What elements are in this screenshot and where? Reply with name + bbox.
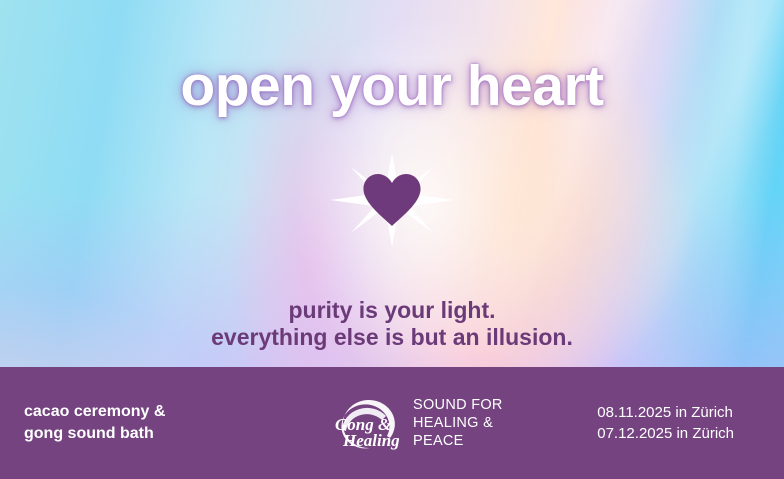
brand-logo: Gong & Healing SOUND FOR HEALING & PEACE xyxy=(330,392,503,454)
tagline: purity is your light. everything else is… xyxy=(0,297,784,351)
event-date-2: 07.12.2025 in Zürich xyxy=(597,423,734,444)
page-title: open your heart xyxy=(0,58,784,115)
tagline-line-1: purity is your light. xyxy=(0,297,784,324)
logo-tagline-line-1: SOUND FOR xyxy=(413,396,503,414)
event-name-line-1: cacao ceremony & xyxy=(24,401,330,423)
heart-starburst-emblem xyxy=(0,152,784,248)
logo-tagline: SOUND FOR HEALING & PEACE xyxy=(413,396,503,450)
event-date-1: 08.11.2025 in Zürich xyxy=(597,402,734,423)
heart-starburst-icon xyxy=(327,152,457,248)
event-poster: open your heart xyxy=(0,0,784,479)
logo-tagline-line-2: HEALING & xyxy=(413,414,503,432)
poster-footer: cacao ceremony & gong sound bath Gong & … xyxy=(0,367,784,479)
event-name: cacao ceremony & gong sound bath xyxy=(0,401,330,445)
poster-content: open your heart xyxy=(0,0,784,367)
logo-script-line-2: Healing xyxy=(342,431,400,450)
logo-tagline-line-3: PEACE xyxy=(413,432,503,450)
tagline-line-2: everything else is but an illusion. xyxy=(0,324,784,351)
gong-and-healing-logo-icon: Gong & Healing xyxy=(330,392,404,454)
event-name-line-2: gong sound bath xyxy=(24,423,330,445)
event-dates: 08.11.2025 in Zürich 07.12.2025 in Züric… xyxy=(597,402,784,444)
